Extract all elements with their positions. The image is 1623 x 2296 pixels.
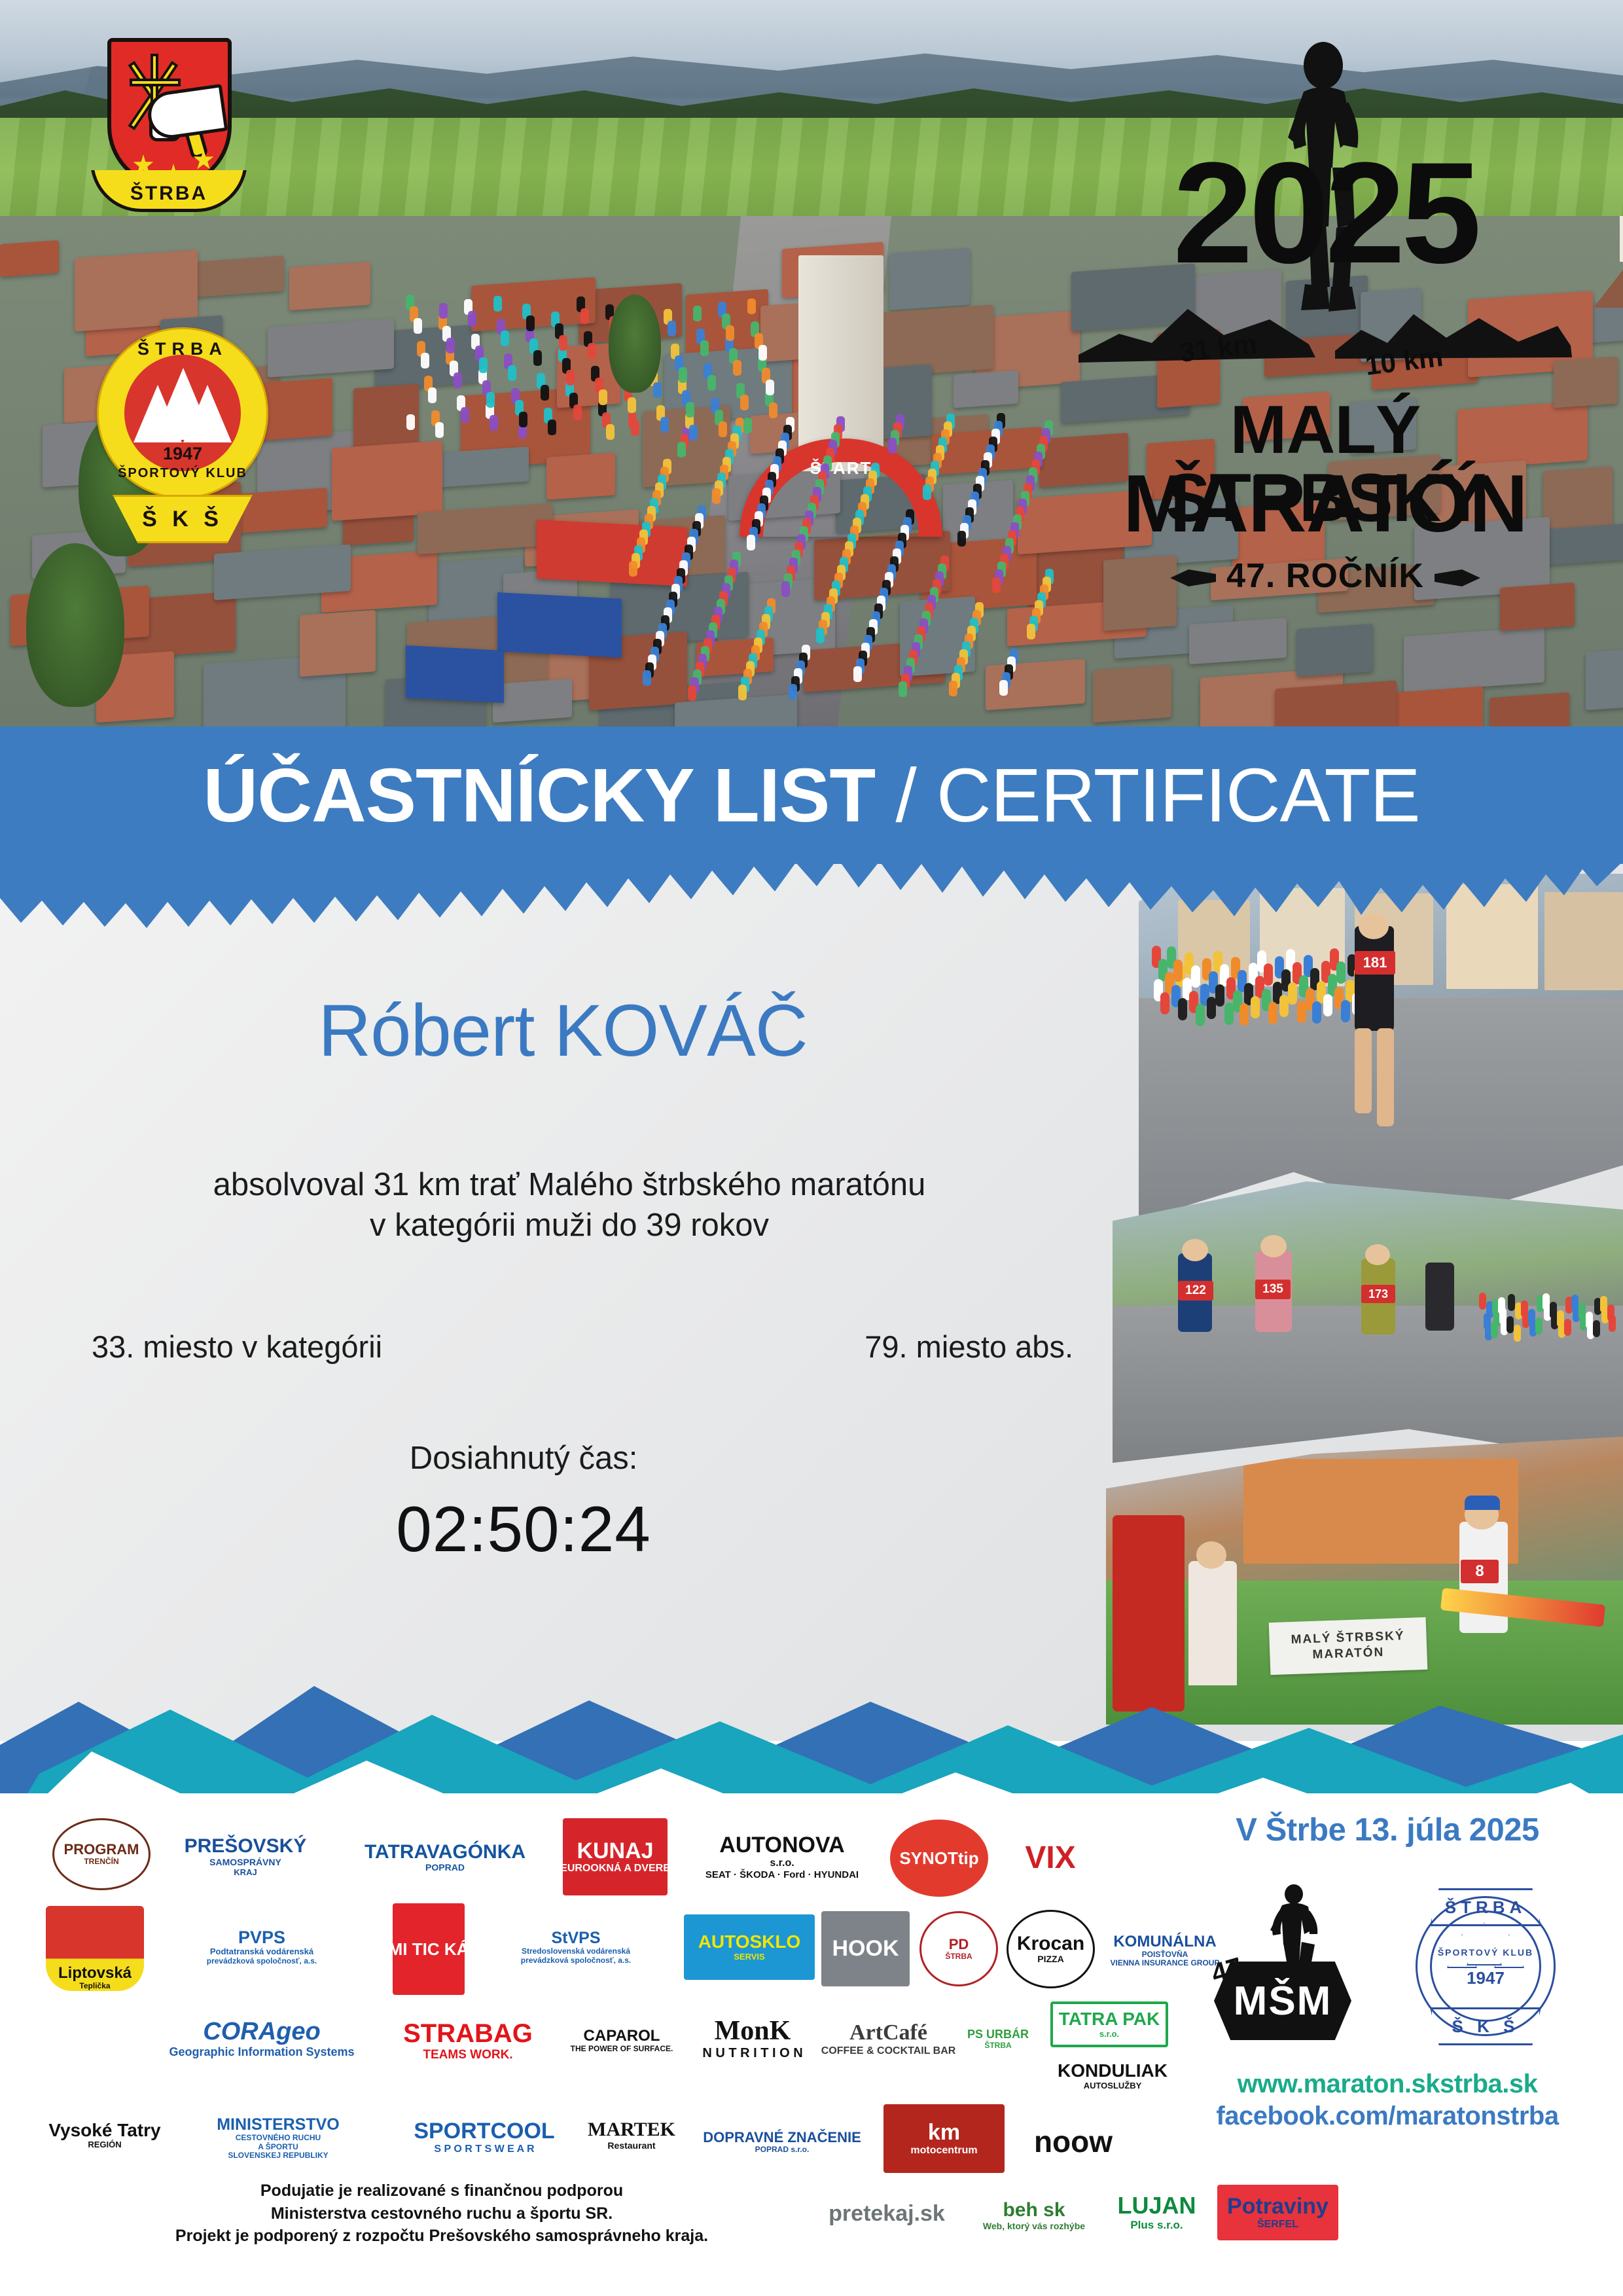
strba-coat-of-arms: ŠTRBA <box>90 31 247 228</box>
hero-spectator <box>789 684 797 700</box>
sponsor-logo-lujan-plus-s-r-o: LUJANPlus s.r.o. <box>1103 2185 1211 2240</box>
sks-bottom-label: ŠPORTOVÝ KLUB <box>97 466 268 481</box>
certificate-description: absolvoval 31 km trať Malého štrbského m… <box>79 1165 1060 1246</box>
hero-roof <box>889 248 970 311</box>
sponsor-logo-autonova-s-r-o: AUTONOVAs.r.o.SEAT · ŠKODA · Ford · HYUN… <box>684 1817 880 1897</box>
hero-roof <box>268 318 394 377</box>
sks-top-label: ŠTRBA <box>97 339 268 359</box>
sponsor-logo-caparol: CAPAROLTHE POWER OF SURFACE. <box>563 2003 681 2078</box>
hero-roof <box>546 452 615 499</box>
sponsor-logo-potraviny-erfel: PotravinyŠERFEL <box>1217 2185 1338 2240</box>
hero-roof <box>1489 692 1569 726</box>
hero-spectator <box>599 389 607 405</box>
hero-roof <box>1586 645 1623 711</box>
hero-spectator <box>566 370 575 386</box>
sponsor-name: Potraviny <box>1227 2195 1329 2219</box>
hero-photo: ŠTART ŠTRBA <box>0 0 1623 726</box>
sponsor-logo-liptovsk-tepli-ka: LiptovskáTeplička <box>46 1906 144 1991</box>
footer: PROGRAMTRENČÍNPREŠOVSKÝSAMOSPRÁVNYKRAJTA… <box>0 1793 1623 2296</box>
hero-spectator <box>923 484 931 500</box>
sponsor-subtitle: KRAJ <box>234 1868 257 1878</box>
photo-runner-head <box>1365 1244 1390 1265</box>
title-bold: ÚČASTNÍCKY LIST <box>203 753 875 838</box>
sks-stamp-bottom-banner: Š K Š <box>1430 2007 1541 2045</box>
sks-stamp-mid-label: ŠPORTOVÝ KLUB <box>1404 1947 1567 1958</box>
arrow-left-icon <box>1170 569 1216 586</box>
brand-year: 2025 <box>1067 154 1584 272</box>
sponsor-subtitle: Stredoslovenská vodárenská <box>522 1947 630 1956</box>
hero-spectator <box>454 372 462 388</box>
hero-spectator <box>653 382 662 398</box>
footer-right-column: V Štrbe 13. júla 2025 <box>1178 1800 1597 2131</box>
sponsor-logo-autosklo-servis: AUTOSKLOSERVIS <box>684 1914 815 1980</box>
sponsor-name: km <box>928 2121 960 2145</box>
hero-spectator <box>743 418 752 433</box>
sponsor-logo-beh-sk: beh skWeb, ktorý vás rozhýbe <box>972 2191 1096 2240</box>
photo-collage: 181 122 135 173 MALÝ ŠTRBSKÝ MARATÓN <box>1106 874 1623 1725</box>
hero-roof <box>1382 687 1483 726</box>
hero-roof <box>1189 618 1287 664</box>
photo-spectator <box>1312 1001 1321 1024</box>
crest-shield <box>107 38 232 188</box>
church-tower <box>1620 216 1623 262</box>
sponsor-name: KUNAJ <box>577 1839 653 1863</box>
sponsor-subtitle: AUTOSLUŽBY <box>1084 2081 1142 2091</box>
place-category: 33. miesto v kategórii <box>92 1329 382 1365</box>
sponsor-subtitle: ŠTRBA <box>945 1952 972 1962</box>
photo-runner-leg <box>1355 1028 1372 1113</box>
hero-spectator <box>766 380 774 395</box>
sponsor-subtitle: Restaurant <box>607 2141 655 2151</box>
sponsor-subtitle: SEAT · ŠKODA · Ford · HYUNDAI <box>705 1869 859 1880</box>
photo-runners-group: 122 135 173 <box>1113 1181 1623 1463</box>
photo-runner-distant <box>1508 1294 1515 1311</box>
hero-roof <box>0 240 59 277</box>
website-link[interactable]: www.maraton.skstrba.sk <box>1178 2070 1597 2099</box>
photo-folk-dancer-head <box>1196 1541 1226 1569</box>
sks-banner-label: Š K Š <box>142 507 223 532</box>
photo-spectator <box>1251 996 1260 1018</box>
hero-spectator <box>733 360 741 376</box>
photo-runner-distant <box>1514 1325 1521 1342</box>
sponsor-name: KONDULIAK <box>1058 2061 1168 2081</box>
sponsor-logo-pretekaj-sk: pretekaj.sk <box>811 2187 962 2240</box>
hero-spectator <box>479 357 488 373</box>
sponsor-logo-dopravn-zna-enie-poprad: DOPRAVNÉ ZNAČENIEPOPRAD s.r.o. <box>697 2114 867 2170</box>
sks-stamp-top-banner: ŠTRBA <box>1430 1888 1541 1926</box>
hero-roof <box>214 545 351 601</box>
brand-name-line2: MARATÓN <box>1067 463 1584 545</box>
sponsor-name: Krocan <box>1017 1933 1084 1954</box>
sponsor-name: LUJAN <box>1117 2193 1196 2219</box>
sponsor-name: AUTONOVA <box>719 1833 844 1857</box>
sponsor-subtitle: Podtatranská vodárenská <box>210 1947 313 1957</box>
sponsor-logo-monk-nutrition: MonKN U T R I T I O N <box>687 2006 818 2072</box>
hero-spectator <box>428 387 437 403</box>
sponsor-logo-sportcool-sportswear: SPORTCOOLS P O R T S W E A R <box>406 2106 563 2168</box>
photo-bib: 135 <box>1255 1280 1291 1299</box>
sponsor-subtitle: EUROOKNÁ A DVERE <box>560 1863 670 1874</box>
hero-spectator <box>747 535 755 550</box>
sponsor-logo-konduliak-autoslu-by: KONDULIAKAUTOSLUŽBY <box>1050 2050 1175 2102</box>
sks-club-logo: ŠTRBA 1947 ŠPORTOVÝ KLUB Š K Š <box>97 327 268 550</box>
time-label: Dosiahnutý čas: <box>79 1440 969 1477</box>
participant-name: Róbert KOVÁČ <box>79 988 1047 1073</box>
photo-runner-leg <box>1377 1028 1394 1126</box>
sponsor-subtitle: Web, ktorý vás rozhýbe <box>983 2221 1085 2232</box>
hero-spectator <box>999 680 1008 696</box>
photo-runner-distant <box>1484 1313 1491 1330</box>
hero-spectator <box>693 306 702 321</box>
support-note: Podujatie je realizované s finančnou pod… <box>72 2179 811 2248</box>
hero-spectator <box>769 403 777 418</box>
hero-spectator <box>414 318 422 334</box>
photo-runner-distant <box>1564 1319 1571 1336</box>
sponsor-name: PD <box>949 1937 969 1952</box>
sponsor-subtitle: ŠERFEL <box>1257 2219 1298 2231</box>
photo-runner-head <box>1260 1235 1287 1257</box>
hero-spectator <box>548 420 556 435</box>
facebook-link[interactable]: facebook.com/maratonstrba <box>1178 2102 1597 2131</box>
hero-spectator <box>707 375 716 391</box>
photo-spectator <box>1323 994 1332 1016</box>
brand-edition: 47. ROČNÍK <box>1067 556 1584 596</box>
sks-stamp-year: 1947 <box>1404 1968 1567 1988</box>
hero-tent-blue-2 <box>406 645 504 703</box>
hero-spectator <box>888 438 897 454</box>
sponsor-logo-po-nohospod-rske-dru-stvo-trba: PDŠTRBA <box>919 1911 998 1986</box>
photo-runner-distant <box>1586 1312 1593 1329</box>
hero-tree-1 <box>609 295 661 393</box>
sponsor-subtitle: N U T R I T I O N <box>702 2046 802 2061</box>
hero-spectator <box>643 670 651 686</box>
hero-spectator <box>688 685 696 701</box>
sponsor-name: AUTOSKLO <box>698 1932 801 1952</box>
sponsor-logo-vysok-tatry-regi-n: Vysoké TatryREGIÓN <box>46 2094 164 2176</box>
sponsor-subtitle: POPRAD <box>425 1863 465 1873</box>
msm-acronym-label: MŠM <box>1234 1978 1332 2024</box>
hero-spectator <box>660 417 669 433</box>
sponsor-subtitle: SLOVENSKEJ REPUBLIKY <box>228 2151 328 2161</box>
hero-tree-3 <box>26 543 124 707</box>
sponsor-subtitle: Plus s.r.o. <box>1130 2219 1183 2231</box>
photo-spectator <box>1196 1004 1205 1026</box>
sponsor-subtitle: ŠTRBA <box>984 2041 1011 2051</box>
hero-spectator <box>490 415 498 431</box>
photo-spectator <box>1215 984 1224 1007</box>
photo-runner-distant <box>1498 1297 1505 1314</box>
hero-spectator <box>486 392 495 408</box>
sponsor-subtitle: A ŠPORTU <box>258 2143 298 2152</box>
photo-winner-headband <box>1465 1496 1500 1510</box>
sponsor-subtitle: SERVIS <box>734 1952 764 1962</box>
photo-runner-distant <box>1543 1293 1550 1310</box>
sponsor-logo-program-tren-n: PROGRAMTRENČÍN <box>52 1818 151 1890</box>
sponsor-name: noow <box>1034 2126 1113 2159</box>
sponsor-name: PROGRAM <box>64 1842 139 1857</box>
hero-roof <box>439 446 529 488</box>
sponsor-logo-ministerstvo-cestovn-ho-ruchu-a-portu-sr: MINISTERSTVOCESTOVNÉHO RUCHUA ŠPORTUSLOV… <box>170 2102 386 2174</box>
sponsor-logo-grid: PROGRAMTRENČÍNPREŠOVSKÝSAMOSPRÁVNYKRAJTA… <box>39 1806 1152 2186</box>
hero-spectator <box>461 407 469 423</box>
photo-runner-distant <box>1479 1293 1486 1310</box>
photo-spectator <box>1268 1002 1277 1024</box>
finish-time: 02:50:24 <box>79 1492 969 1566</box>
hero-spectator <box>899 681 907 697</box>
sponsor-logo-martek-restaurant: MARTEKRestaurant <box>576 2094 687 2176</box>
sponsor-subtitle: TEAMS WORK. <box>423 2048 512 2062</box>
sponsor-subtitle: REGIÓN <box>88 2140 121 2150</box>
sponsor-logo-ps-urb-r-trba: PS URBÁRŠTRBA <box>955 2000 1041 2079</box>
hero-tent-blue <box>497 592 622 658</box>
photo-runner-distant <box>1491 1321 1498 1338</box>
hero-spectator <box>631 420 639 436</box>
hero-spectator <box>853 666 862 682</box>
sponsor-logo-corageo: CORAgeoGeographic Information Systems <box>154 2003 370 2075</box>
page-title: ÚČASTNÍCKY LIST / CERTIFICATE <box>203 757 1419 833</box>
hero-spectator <box>747 298 756 314</box>
photo-runner-distant <box>1507 1316 1514 1333</box>
hero-spectator <box>758 345 767 361</box>
photo-runner-distant <box>1607 1304 1614 1321</box>
crest-crossbar <box>130 79 181 86</box>
description-line-2: v kategórii muži do 39 rokov <box>79 1206 1060 1246</box>
sponsor-logo-strabag: STRABAGTEAMS WORK. <box>386 2008 550 2073</box>
hero-spectator <box>679 367 687 383</box>
sponsor-name: pretekaj.sk <box>829 2202 945 2226</box>
sponsor-subtitle: prevádzková spoločnosť, a.s. <box>521 1956 631 1965</box>
photo-spectator <box>1173 960 1183 982</box>
hero-spectator <box>957 531 966 547</box>
church-roof <box>1594 249 1623 308</box>
hero-spectator <box>421 353 429 368</box>
hero-spectator <box>468 311 476 327</box>
sponsor-name: STRABAG <box>403 2020 533 2048</box>
certificate-page: ŠTART ŠTRBA <box>0 0 1623 2296</box>
footer-emblems: 47. MŠM ŠTRBA ŠPORTOVÝ KLUB 1947 Š K Š <box>1178 1868 1597 2064</box>
hero-spectator <box>573 404 582 420</box>
hero-spectator <box>677 442 686 457</box>
sks-banner: Š K Š <box>113 495 253 543</box>
sponsor-logo-km-motocentrum: kmmotocentrum <box>883 2104 1005 2173</box>
hero-spectator <box>726 325 734 341</box>
photo-spectator <box>1191 965 1200 988</box>
hero-tent-red <box>537 520 687 586</box>
hero-spectator <box>406 414 415 430</box>
photo-bib: 8 <box>1461 1560 1499 1583</box>
hero-roof <box>954 370 1018 408</box>
photo-spectator <box>1288 982 1297 1005</box>
sponsor-subtitle: POPRAD s.r.o. <box>755 2145 810 2155</box>
sponsor-subtitle: TRENČÍN <box>84 1857 118 1867</box>
hero-spectator <box>686 402 694 418</box>
sponsor-name: MI TIC KÁ <box>389 1940 469 1958</box>
sponsor-name: PVPS <box>238 1928 285 1947</box>
sponsor-subtitle: S P O R T S W E A R <box>434 2144 534 2155</box>
hero-spectator <box>719 422 727 437</box>
sponsor-name: HOOK <box>832 1937 899 1961</box>
photo-runner-head <box>1182 1239 1208 1261</box>
sponsor-logo-tatra-pak: TATRA PAKs.r.o. <box>1050 2001 1168 2047</box>
sponsor-subtitle: COFFEE & COCKTAIL BAR <box>821 2045 956 2057</box>
photo-runner-distant <box>1521 1300 1528 1318</box>
sponsor-subtitle: PIZZA <box>1037 1954 1063 1965</box>
hero-spectator <box>526 315 535 331</box>
sponsor-name: DOPRAVNÉ ZNAČENIE <box>703 2130 861 2145</box>
sponsor-subtitle: THE POWER OF SURFACE. <box>571 2045 673 2054</box>
sponsor-name: TATRA PAK <box>1059 2009 1160 2029</box>
hero-roof <box>1404 626 1544 692</box>
sponsor-subtitle: Geographic Information Systems <box>169 2045 354 2059</box>
sponsor-logo-pre-ovsk-samospr-vny-kraj: PREŠOVSKÝSAMOSPRÁVNYKRAJ <box>160 1821 330 1893</box>
sponsor-name: SPORTCOOL <box>414 2119 554 2144</box>
hero-spectator <box>606 424 615 440</box>
photo-spectator <box>1279 995 1289 1017</box>
sponsor-name: PREŠOVSKÝ <box>185 1836 307 1857</box>
photo-runner-distant <box>1557 1310 1564 1327</box>
msm-emblem: 47. MŠM <box>1207 1884 1358 2048</box>
hero-spectator <box>508 365 516 381</box>
brand-edition-label: 47. ROČNÍK <box>1226 557 1424 595</box>
sponsor-name: CAPAROL <box>584 2028 660 2045</box>
hero-spectator <box>533 350 542 366</box>
photo-spectator <box>1336 961 1346 984</box>
photo-runner <box>1355 926 1394 1031</box>
sponsor-name: VIX <box>1025 1841 1075 1875</box>
sponsor-name: CORAgeo <box>203 2018 320 2045</box>
hero-roof <box>332 440 442 521</box>
description-line-1: absolvoval 31 km trať Malého štrbského m… <box>79 1165 1060 1206</box>
sponsor-name: MARTEK <box>588 2119 675 2140</box>
photo-runner-distant <box>1571 1295 1578 1312</box>
hero-roof <box>493 679 572 723</box>
sponsor-name: StVPS <box>551 1929 600 1947</box>
crest-ribbon-label: ŠTRBA <box>130 183 207 209</box>
hero-spectator <box>629 561 637 577</box>
sponsor-subtitle: Teplička <box>79 1982 110 1991</box>
sponsor-logo-tatravag-nka-poprad: TATRAVAGÓNKAPOPRAD <box>347 1825 543 1890</box>
sponsor-subtitle: prevádzková spoločnosť, a.s. <box>207 1957 317 1966</box>
sponsor-name: TATRAVAGÓNKA <box>365 1842 526 1863</box>
photo-spectator <box>1297 1001 1306 1023</box>
sks-year-label: 1947 <box>97 444 268 464</box>
sponsor-name: MonK <box>715 2017 791 2046</box>
hero-spectator <box>493 296 502 312</box>
photo-spectator <box>1207 997 1216 1019</box>
sponsor-logo-pvps: PVPSPodtatranská vodárenskáprevádzková s… <box>154 1911 370 1983</box>
hero-spectator <box>541 385 549 401</box>
hero-spectator <box>559 335 567 351</box>
photo-runner-distant <box>1550 1302 1557 1319</box>
sponsor-subtitle: CESTOVNÉHO RUCHU <box>236 2134 321 2143</box>
hero-spectator <box>712 488 721 504</box>
hero-spectator <box>580 308 589 324</box>
sponsor-logo-artcaf: ArtCaféCOFFEE & COCKTAIL BAR <box>828 2001 949 2077</box>
sponsor-name: ArtCafé <box>849 2021 927 2045</box>
sponsor-logo-krocan-pizza: KrocanPIZZA <box>1007 1910 1095 1988</box>
photo-runner-distant <box>1600 1296 1607 1313</box>
support-line-3: Projekt je podporený z rozpočtu Prešovsk… <box>72 2225 811 2248</box>
photo-bib: 181 <box>1355 951 1395 975</box>
photo-runner <box>1425 1263 1454 1331</box>
place-absolute: 79. miesto abs. <box>865 1329 1073 1365</box>
hero-spectator <box>668 321 676 336</box>
sponsor-subtitle: s.r.o. <box>770 1857 794 1869</box>
photo-spectator <box>1341 1000 1350 1022</box>
hero-roof <box>1296 624 1373 677</box>
sponsor-name: Liptovská <box>58 1965 132 1982</box>
hero-spectator <box>435 422 444 438</box>
msm-diamond: MŠM <box>1214 1962 1351 2040</box>
sponsor-name: beh sk <box>1003 2200 1065 2221</box>
title-light: / CERTIFICATE <box>875 753 1419 838</box>
hero-spectator <box>446 338 455 353</box>
sponsor-logo-vix: VIX <box>1001 1820 1099 1897</box>
sponsor-subtitle: s.r.o. <box>1099 2030 1119 2039</box>
sponsor-logo-synot-tip: SYNOTtip <box>890 1820 988 1897</box>
hero-spectator <box>689 425 698 440</box>
hero-spectator <box>439 303 448 319</box>
sponsor-logo-kunaj: KUNAJEUROOKNÁ A DVERE <box>563 1818 668 1895</box>
event-date: V Štrbe 13. júla 2025 <box>1178 1812 1597 1848</box>
photo-bib: 122 <box>1178 1281 1213 1300</box>
hero-spectator <box>816 628 825 643</box>
hero-spectator <box>738 685 747 700</box>
placements: 33. miesto v kategórii 79. miesto abs. <box>92 1329 1073 1365</box>
hero-spectator <box>700 340 709 356</box>
certificate-title-band: ÚČASTNÍCKY LIST / CERTIFICATE <box>0 726 1623 864</box>
arrow-right-icon <box>1435 569 1480 586</box>
hero-spectator <box>949 681 957 696</box>
photo-spectator <box>1178 998 1187 1020</box>
sponsor-name: PS URBÁR <box>967 2028 1029 2041</box>
photo-bib: 173 <box>1361 1285 1395 1303</box>
hero-spectator <box>588 343 596 359</box>
photo-runner-distant <box>1535 1318 1543 1335</box>
hero-spectator <box>501 331 509 346</box>
hero-roof <box>1275 680 1397 726</box>
sponsor-logo-hook: HOOK <box>821 1911 910 1986</box>
photo-runner-distant <box>1528 1309 1535 1326</box>
photo-spectator <box>1160 992 1169 1014</box>
hero-spectator <box>1027 624 1035 639</box>
sponsor-subtitle: motocentrum <box>910 2145 977 2157</box>
sponsor-logo-noow: noow <box>1021 2111 1126 2173</box>
photo-spectator <box>1224 1003 1234 1025</box>
support-line-1: Podujatie je realizované s finančnou pod… <box>72 2179 811 2202</box>
sks-stamp-emblem: ŠTRBA ŠPORTOVÝ KLUB 1947 Š K Š <box>1404 1884 1567 2048</box>
support-line-2: Ministerstva cestovného ruchu a športu S… <box>72 2202 811 2225</box>
photo-spectator <box>1240 1003 1249 1026</box>
hero-roof <box>300 610 376 677</box>
sponsor-logo-mitick: MI TIC KÁ <box>393 1903 465 1995</box>
sponsor-logo-stvps: StVPSStredoslovenská vodárenskáprevádzko… <box>478 1911 674 1983</box>
hero-spectator <box>740 395 749 410</box>
hero-roof <box>289 262 370 311</box>
hero-spectator <box>519 412 527 427</box>
hero-spectator <box>628 397 636 413</box>
photo-runner-distant <box>1578 1303 1586 1320</box>
photo-spectator <box>1264 963 1273 986</box>
photo-runner-distant <box>1593 1320 1600 1337</box>
sponsor-name: MINISTERSTVO <box>217 2116 340 2134</box>
hero-roof <box>1093 665 1171 723</box>
sponsor-name: SYNOTtip <box>899 1849 978 1867</box>
hero-spectator <box>781 581 790 597</box>
sponsor-subtitle: SAMOSPRÁVNY <box>209 1857 281 1868</box>
mountain-ridge-icon <box>1073 295 1577 373</box>
sponsor-name: Vysoké Tatry <box>48 2121 160 2140</box>
